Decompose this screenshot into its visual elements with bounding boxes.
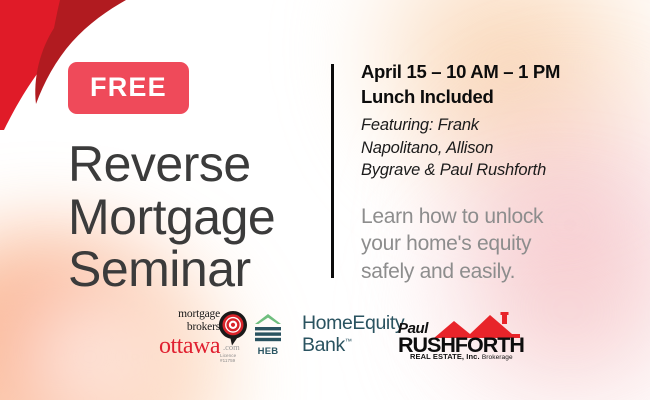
house-bars-icon <box>253 313 283 347</box>
event-headline: April 15 – 10 AM – 1 PM Lunch Included <box>361 60 611 109</box>
heb-trademark-symbol: ™ <box>345 339 352 346</box>
free-badge: FREE <box>68 62 189 114</box>
right-content-column: April 15 – 10 AM – 1 PM Lunch Included F… <box>361 60 611 286</box>
heb-wordmark-text: HomeEquity Bank <box>302 312 404 356</box>
logo-mortgage-brokers-ottawa: mortgage brokers ottawa .com Licence #11… <box>140 309 248 361</box>
map-pin-target-icon <box>218 310 248 346</box>
event-tagline: Learn how to unlock your home's equity s… <box>361 203 611 287</box>
mbo-line-brokers: brokers <box>140 321 220 333</box>
heb-abbreviation: HEB <box>253 346 283 357</box>
logo-homeequity-bank: HEB HomeEquity Bank™ <box>253 312 393 358</box>
logo-paul-rushforth: Paul RUSHFORTH REAL ESTATE, Inc. Brokera… <box>398 310 520 360</box>
mbo-line-mortgage: mortgage <box>140 309 220 321</box>
featuring-speakers: Featuring: Frank Napolitano, Allison Byg… <box>361 114 611 181</box>
rushforth-subtitle: REAL ESTATE, Inc. Brokerage <box>410 352 513 361</box>
sponsor-logo-row: mortgage brokers ottawa .com Licence #11… <box>140 306 520 364</box>
heb-house-mark: HEB <box>253 313 283 357</box>
rushforth-brokerage-text: Brokerage <box>482 354 513 361</box>
mbo-wordmark-block: mortgage brokers ottawa <box>140 309 220 358</box>
page-title: Reverse Mortgage Seminar <box>68 138 318 296</box>
heb-wordmark: HomeEquity Bank™ <box>302 313 404 357</box>
rushforth-real-estate-text: REAL ESTATE, Inc. <box>410 352 480 361</box>
seminar-poster: FREE Reverse Mortgage Seminar April 15 –… <box>0 0 650 400</box>
left-content-column: FREE Reverse Mortgage Seminar <box>68 62 318 296</box>
vertical-divider <box>331 64 334 278</box>
mbo-domain-suffix: .com <box>223 342 240 352</box>
mbo-license-number: Licence #11759 <box>220 353 248 363</box>
mbo-wordmark-ottawa: ottawa <box>140 334 220 358</box>
